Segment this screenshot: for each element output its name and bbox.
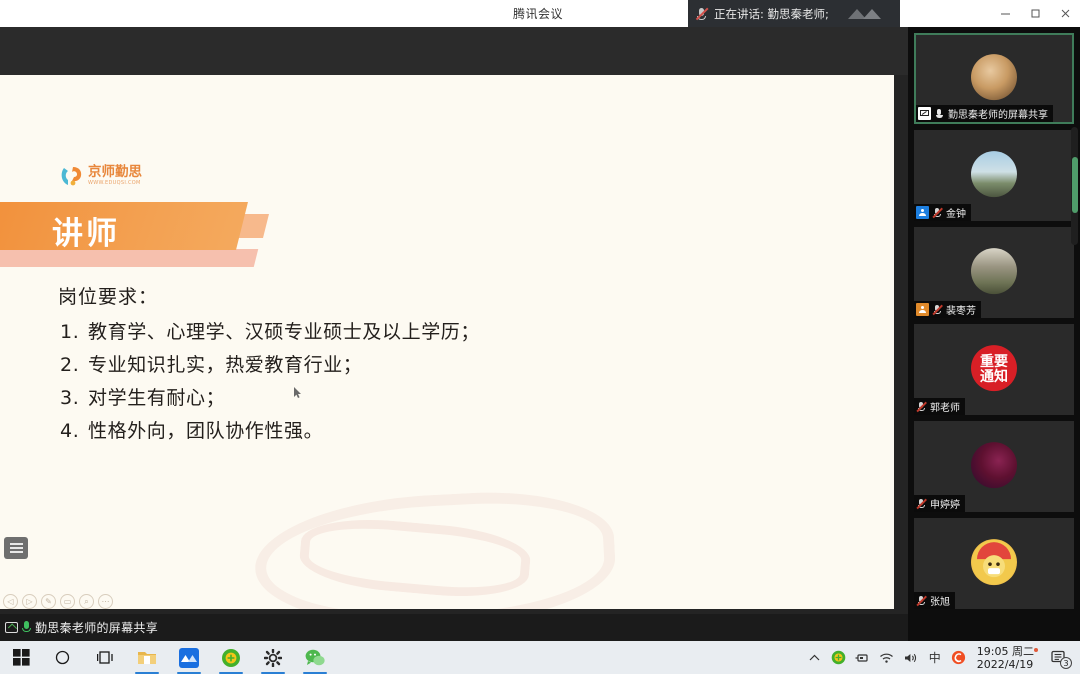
participant-tag: 金钟 [914, 204, 971, 221]
participant-tag: 申婷婷 [914, 495, 965, 512]
participant-name: 金钟 [946, 205, 966, 220]
participant-name: 裴枣芳 [946, 302, 976, 317]
ppt-zoom-icon[interactable]: ⌕ [79, 594, 94, 609]
slide-list-button[interactable] [4, 537, 28, 559]
presentation-slide[interactable]: 京师勤思 WWW.EDUQSI.COM 讲师 岗位要求： 1. 教育学、心理学、… [0, 75, 894, 609]
avatar [971, 54, 1017, 100]
taskbar-clock[interactable]: 19:05 周二 2022/4/19 [971, 645, 1042, 671]
company-logo: 京师勤思 WWW.EDUQSI.COM [60, 164, 142, 188]
360-tray-icon[interactable] [827, 641, 851, 674]
participant-name: 张旭 [930, 593, 950, 608]
360-security-icon[interactable] [210, 641, 252, 674]
participant-panel[interactable]: 勤思秦老师的屏幕共享 金钟 裴枣芳 重要 通知 郭老师 [908, 27, 1080, 641]
ppt-play-icon[interactable]: ▷ [22, 594, 37, 609]
clock-alert-dot [1034, 648, 1038, 652]
screen-share-icon [5, 622, 18, 633]
search-button[interactable] [42, 641, 84, 674]
svg-text:重要: 重要 [980, 353, 1008, 370]
task-view-button[interactable] [84, 641, 126, 674]
stage-letterbox [0, 27, 908, 75]
list-item: 3. 对学生有耐心； [60, 382, 480, 415]
list-item: 2. 专业知识扎实，热爱教育行业； [60, 349, 480, 382]
mic-muted-icon [932, 207, 943, 219]
mic-muted-icon [916, 595, 927, 607]
panel-scrollbar-thumb[interactable] [1072, 157, 1078, 213]
avatar [971, 248, 1017, 294]
mic-on-icon [934, 108, 945, 120]
tencent-meeting-logo-icon [846, 7, 892, 21]
window-titlebar: 腾讯会议 正在讲话: 勤思秦老师; [0, 0, 1080, 27]
list-item-text: 教育学、心理学、汉硕专业硕士及以上学历； [88, 316, 480, 349]
file-explorer-icon[interactable] [126, 641, 168, 674]
speaking-label: 正在讲话: 勤思秦老师; [714, 6, 829, 22]
mic-on-icon [22, 621, 31, 634]
list-item-number: 3. [60, 382, 88, 415]
logo-url: WWW.EDUQSI.COM [88, 181, 142, 186]
ppt-screen-icon[interactable]: ▭ [60, 594, 75, 609]
participant-tag: 张旭 [914, 592, 955, 609]
list-item-text: 对学生有耐心； [88, 382, 225, 415]
show-hidden-icons-icon[interactable] [803, 641, 827, 674]
participant-tile-2[interactable]: 裴枣芳 [914, 227, 1074, 318]
ime-chinese-icon[interactable]: 中 [923, 641, 947, 674]
screen-share-badge-icon [918, 107, 931, 120]
start-button[interactable] [0, 641, 42, 674]
list-item: 1. 教育学、心理学、汉硕专业硕士及以上学历； [60, 316, 480, 349]
action-center-button[interactable]: 3 [1042, 641, 1076, 674]
screen-share-label: 勤思秦老师的屏幕共享 [35, 619, 158, 636]
list-item-text: 专业知识扎实，热爱教育行业； [88, 349, 362, 382]
banner-title: 讲师 [52, 208, 120, 253]
clock-time: 19:05 周二 [977, 645, 1034, 658]
list-item: 4. 性格外向，团队协作性强。 [60, 415, 480, 448]
settings-gear-icon[interactable] [252, 641, 294, 674]
participant-tile-5[interactable]: 张旭 [914, 518, 1074, 609]
ppt-control-bar: ◁ ▷ ✎ ▭ ⌕ ⋯ [3, 594, 113, 609]
participant-name: 勤思秦老师的屏幕共享 [948, 106, 1048, 121]
person-badge-icon [916, 206, 929, 219]
participant-tile-4[interactable]: 申婷婷 [914, 421, 1074, 512]
ppt-prev-icon[interactable]: ◁ [3, 594, 18, 609]
logo-mark-icon [60, 164, 84, 188]
list-item-number: 2. [60, 349, 88, 382]
system-tray: 中 19:05 周二 2022/4/19 3 [803, 641, 1080, 674]
participant-tag: 勤思秦老师的屏幕共享 [916, 105, 1053, 122]
avatar [971, 539, 1017, 585]
notification-count: 3 [1060, 657, 1072, 669]
svg-text:通知: 通知 [980, 368, 1008, 385]
participant-tag: 裴枣芳 [914, 301, 981, 318]
taskbar-apps [0, 641, 336, 674]
minimize-button[interactable] [990, 0, 1020, 27]
participant-tile-0[interactable]: 勤思秦老师的屏幕共享 [914, 33, 1074, 124]
ppt-pen-icon[interactable]: ✎ [41, 594, 56, 609]
list-item-text: 性格外向，团队协作性强。 [88, 415, 323, 448]
mic-muted-icon [916, 498, 927, 510]
window-controls [900, 0, 1080, 27]
shared-screen-stage: 京师勤思 WWW.EDUQSI.COM 讲师 岗位要求： 1. 教育学、心理学、… [0, 27, 908, 614]
close-button[interactable] [1050, 0, 1080, 27]
ppt-more-icon[interactable]: ⋯ [98, 594, 113, 609]
clock-date: 2022/4/19 [977, 658, 1033, 671]
list-item-number: 4. [60, 415, 88, 448]
mouse-cursor [294, 384, 302, 396]
participant-tag: 郭老师 [914, 398, 965, 415]
participant-name: 申婷婷 [930, 496, 960, 511]
participant-tile-1[interactable]: 金钟 [914, 130, 1074, 221]
participant-name: 郭老师 [930, 399, 960, 414]
avatar: 重要 通知 [971, 345, 1017, 391]
screen-share-statusbar: 勤思秦老师的屏幕共享 [0, 614, 908, 641]
maximize-button[interactable] [1020, 0, 1050, 27]
avatar [971, 151, 1017, 197]
requirements-heading: 岗位要求： [58, 282, 158, 309]
volume-icon[interactable] [899, 641, 923, 674]
section-banner [0, 202, 300, 264]
logo-text-cn: 京师勤思 [88, 166, 142, 180]
speaking-indicator: 正在讲话: 勤思秦老师; [688, 0, 900, 27]
sogou-input-icon[interactable] [947, 641, 971, 674]
mic-muted-icon [695, 7, 708, 21]
person-badge-icon [916, 303, 929, 316]
wifi-icon[interactable] [875, 641, 899, 674]
list-item-number: 1. [60, 316, 88, 349]
app-title: 腾讯会议 [513, 5, 563, 22]
titlebar-left: 腾讯会议 [0, 0, 688, 27]
avatar [971, 442, 1017, 488]
wechat-icon[interactable] [294, 641, 336, 674]
mic-muted-icon [916, 401, 927, 413]
windows-taskbar: 中 19:05 周二 2022/4/19 3 [0, 641, 1080, 674]
mic-muted-icon [932, 304, 943, 316]
participant-tile-3[interactable]: 重要 通知 郭老师 [914, 324, 1074, 415]
requirements-list: 1. 教育学、心理学、汉硕专业硕士及以上学历； 2. 专业知识扎实，热爱教育行业… [60, 316, 480, 448]
network-adapter-icon[interactable] [851, 641, 875, 674]
tencent-meeting-icon[interactable] [168, 641, 210, 674]
